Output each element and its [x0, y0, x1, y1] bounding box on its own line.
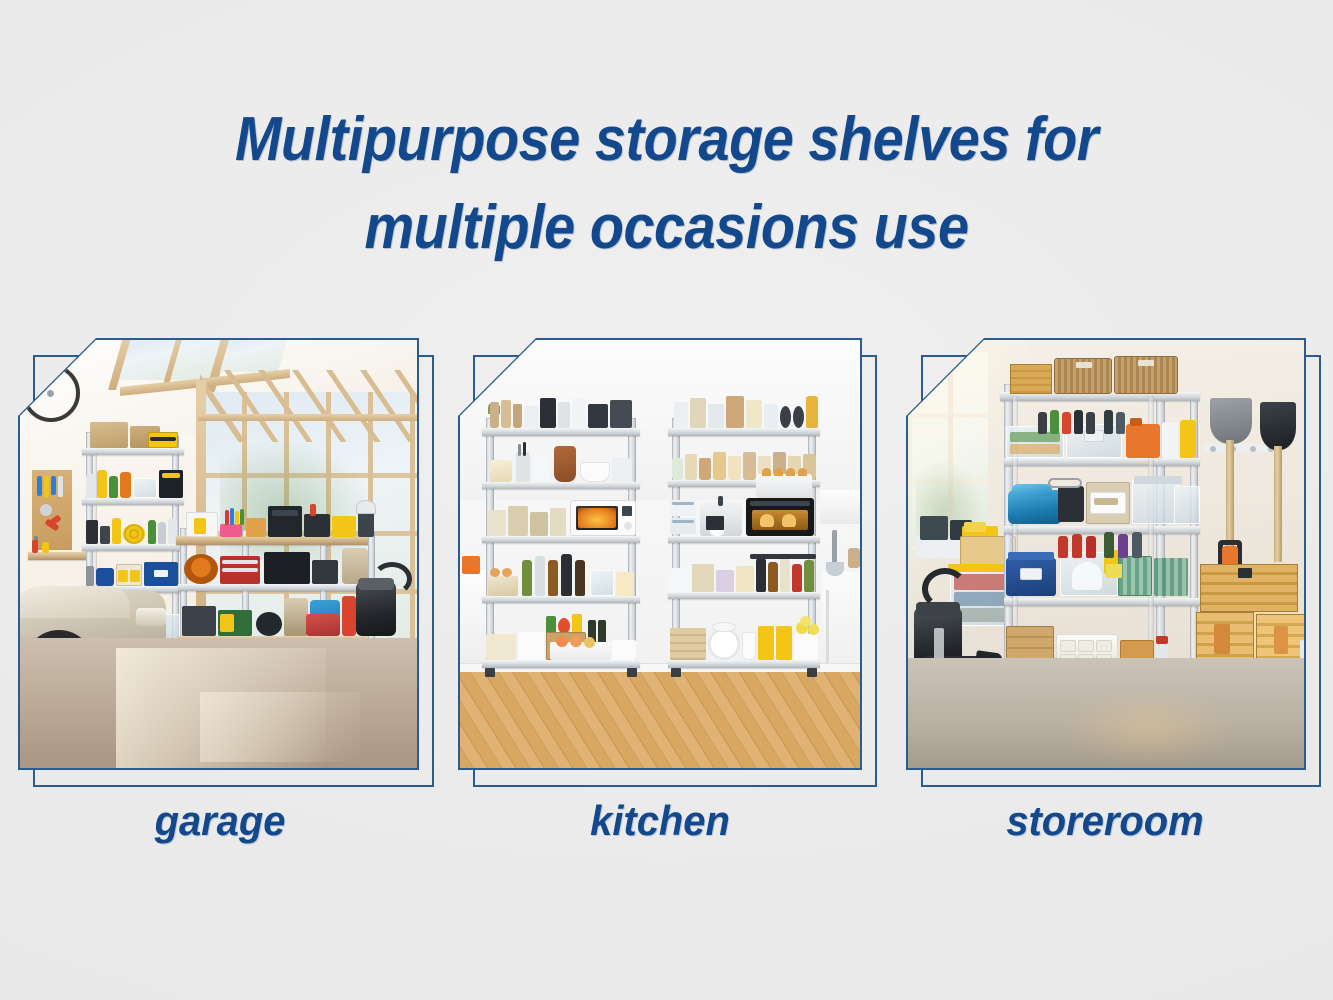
caption-storeroom: storeroom: [963, 800, 1248, 842]
caption-garage: garage: [82, 800, 358, 842]
page-title: Multipurpose storage shelves for multipl…: [67, 96, 1267, 272]
scene-storeroom: [908, 340, 1304, 768]
scene-garage: [20, 340, 417, 768]
scene-kitchen: [460, 340, 860, 768]
panel-photo-storeroom: [906, 338, 1306, 770]
panel-photo-kitchen: [458, 338, 862, 770]
panel-photo-garage: [18, 338, 419, 770]
panel-kitchen[interactable]: [458, 338, 862, 770]
caption-kitchen: kitchen: [522, 800, 798, 842]
panel-row: [0, 338, 1333, 778]
panel-garage[interactable]: [18, 338, 419, 770]
panel-storeroom[interactable]: [906, 338, 1306, 770]
